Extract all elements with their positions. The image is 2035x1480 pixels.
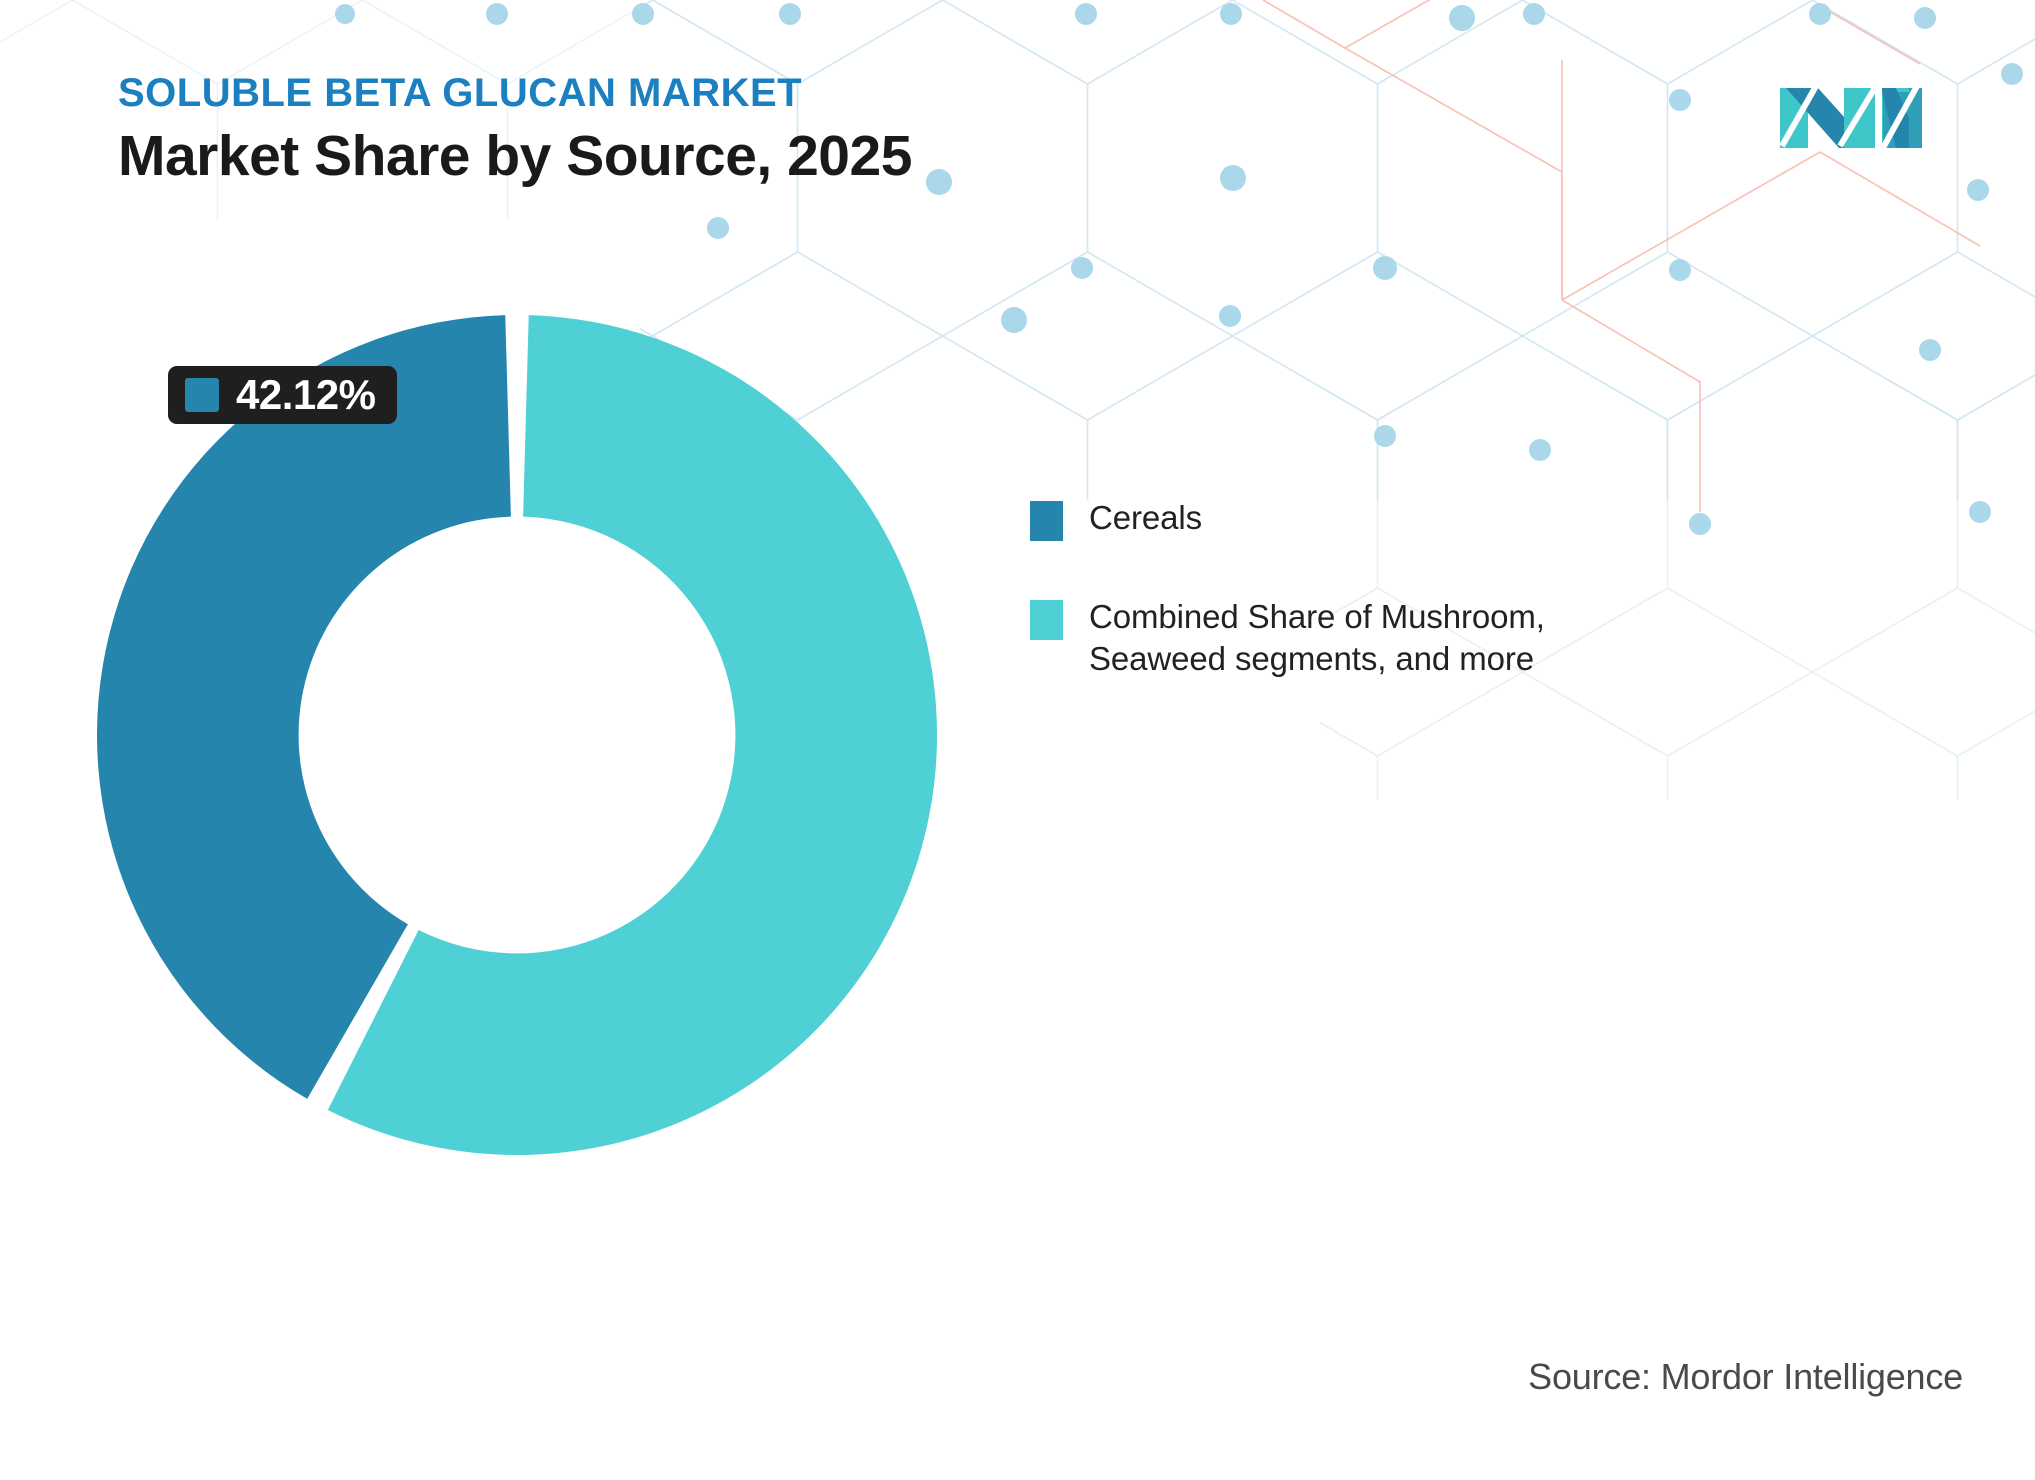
source-attribution: Source: Mordor Intelligence xyxy=(1528,1356,1963,1398)
legend-label-combined: Combined Share of Mushroom, Seaweed segm… xyxy=(1089,596,1545,680)
chart-legend: Cereals Combined Share of Mushroom, Seaw… xyxy=(1030,497,1710,735)
data-label-swatch xyxy=(185,378,219,412)
legend-label-cereals: Cereals xyxy=(1089,497,1202,539)
donut-chart xyxy=(82,300,952,1170)
data-label-callout: 42.12% xyxy=(168,366,397,424)
chart-kicker: SOLUBLE BETA GLUCAN MARKET xyxy=(118,72,1318,114)
donut-chart-svg xyxy=(82,300,952,1170)
legend-item-cereals[interactable]: Cereals xyxy=(1030,497,1710,541)
legend-item-combined[interactable]: Combined Share of Mushroom, Seaweed segm… xyxy=(1030,596,1710,680)
legend-swatch-cereals xyxy=(1030,501,1063,541)
data-label-value: 42.12% xyxy=(236,374,375,416)
page-title: Market Share by Source, 2025 xyxy=(118,126,1318,188)
legend-swatch-combined xyxy=(1030,600,1063,640)
chart-page: SOLUBLE BETA GLUCAN MARKET Market Share … xyxy=(0,0,2035,1480)
page-header: SOLUBLE BETA GLUCAN MARKET Market Share … xyxy=(118,72,1318,188)
mordor-intelligence-logo xyxy=(1776,70,1926,148)
